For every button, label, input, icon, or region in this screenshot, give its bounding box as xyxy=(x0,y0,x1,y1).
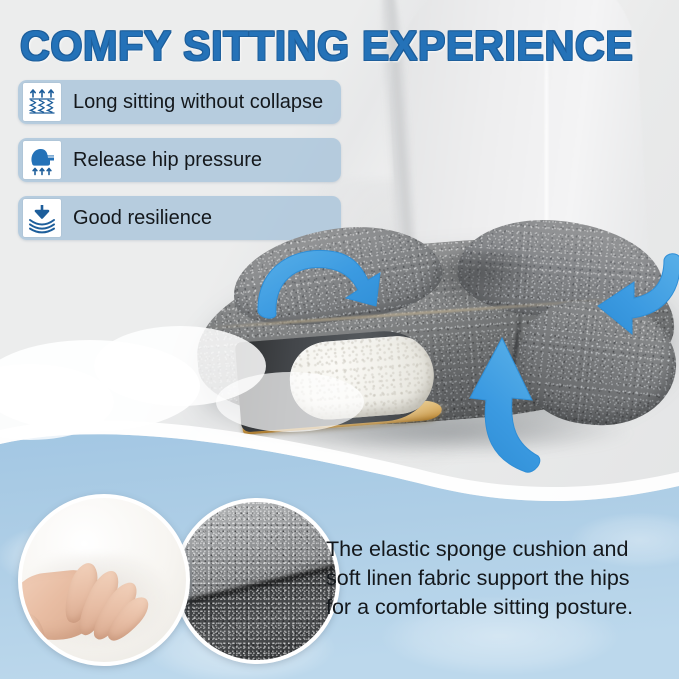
arrow-top-right-curve xyxy=(588,248,679,348)
arrow-bottom-center-curve xyxy=(452,326,572,474)
description-line: for a comfortable sitting posture. xyxy=(326,593,674,622)
foam-texture xyxy=(287,333,437,422)
description-line: soft linen fabric support the hips xyxy=(326,564,674,593)
arrow-top-left-curve xyxy=(250,240,410,335)
hip-silhouette-with-up-arrows-icon xyxy=(23,141,61,179)
page-title: COMFY SITTING EXPERIENCE xyxy=(20,22,658,70)
feature-label: Long sitting without collapse xyxy=(73,91,323,114)
white-sponge-foam-core xyxy=(287,333,437,422)
springs-with-up-arrows-icon xyxy=(23,83,61,121)
description-line: The elastic sponge cushion and xyxy=(326,535,674,564)
hand-pressing-foam-photo xyxy=(18,494,190,666)
feature-item-release-hip-pressure[interactable]: Release hip pressure xyxy=(18,138,341,182)
feature-item-long-sitting[interactable]: Long sitting without collapse xyxy=(18,80,341,124)
linen-fabric-texture-photo xyxy=(174,498,340,664)
product-description-text: The elastic sponge cushion and soft line… xyxy=(326,535,674,622)
hand-illustration xyxy=(18,546,160,654)
product-feature-poster: COMFY SITTING EXPERIENCE xyxy=(0,0,679,679)
down-arrow-on-layers-icon xyxy=(23,199,61,237)
feature-label: Release hip pressure xyxy=(73,149,262,172)
